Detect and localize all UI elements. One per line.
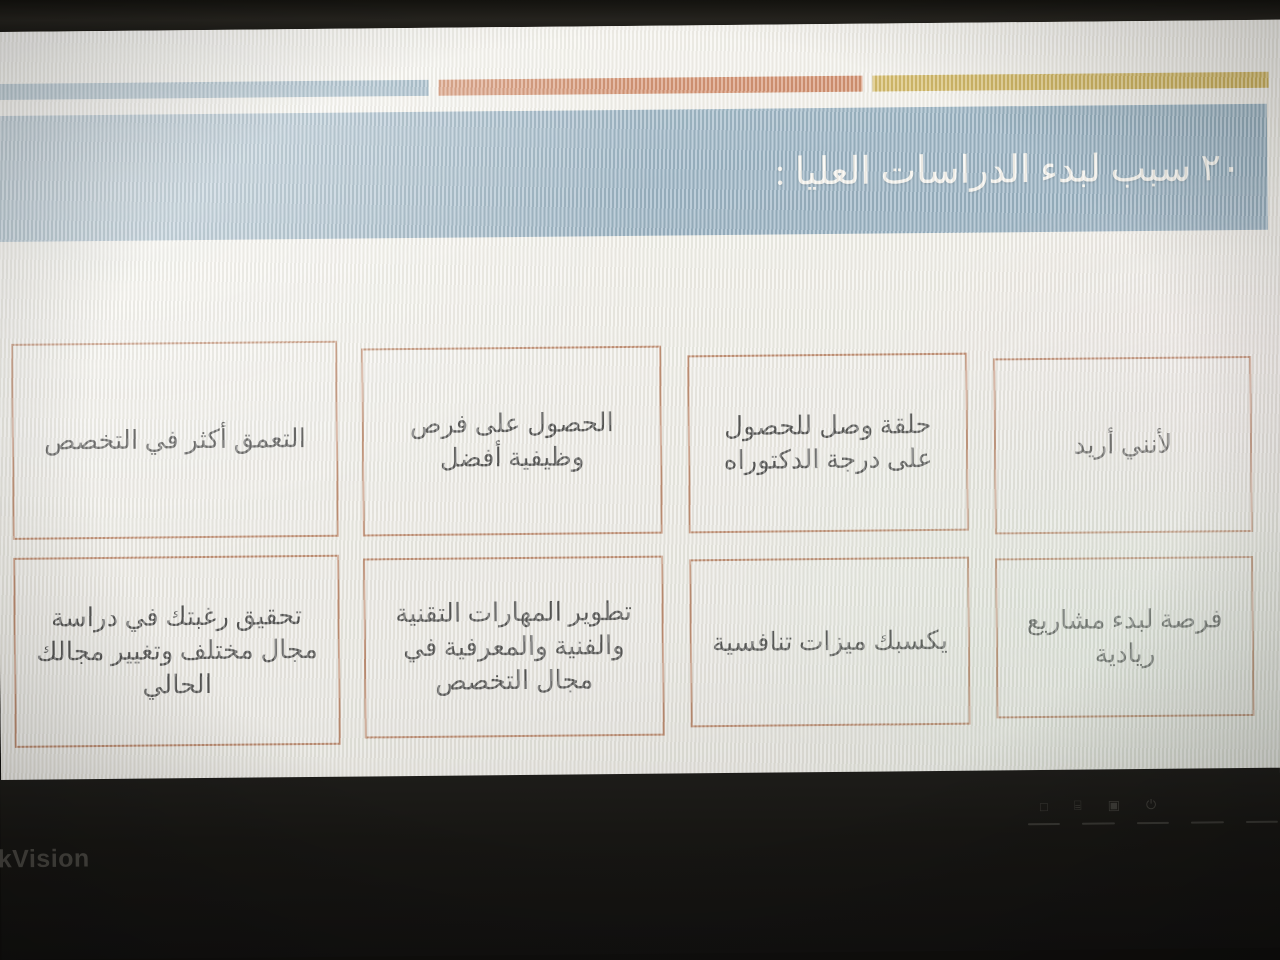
reason-box-7[interactable]: تطوير المهارات التقنية والفنية والمعرفية… xyxy=(363,556,665,739)
reason-box-7-text: تطوير المهارات التقنية والفنية والمعرفية… xyxy=(379,594,648,700)
osd-key-power-icon[interactable]: ⏻ xyxy=(1146,797,1156,813)
osd-indicator-3 xyxy=(1137,822,1169,824)
reason-box-4-text: التعمق أكثر في التخصص xyxy=(44,422,306,459)
reason-box-4[interactable]: التعمق أكثر في التخصص xyxy=(11,341,339,540)
reasons-grid: لأنني أريد حلقة وصل للحصول على درجة الدك… xyxy=(0,320,1280,752)
monitor-photo: ٢٠ سبب لبدء الدراسات العليا : لأنني أريد… xyxy=(0,0,1280,960)
slide-accent-bar xyxy=(0,72,1280,100)
reason-box-5[interactable]: فرصة لبدء مشاريع ريادية xyxy=(995,556,1255,718)
reason-box-6-text: يكسبك ميزات تنافسية xyxy=(712,624,948,661)
slide-title: ٢٠ سبب لبدء الدراسات العليا : xyxy=(775,144,1268,194)
thinkvision-logo: nkVision xyxy=(0,844,90,874)
reason-box-3-text: الحصول على فرص وظيفية أفضل xyxy=(378,405,647,476)
reason-box-8-text: تحقيق رغبتك في دراسة مجال مختلف وتغيير م… xyxy=(29,598,324,704)
osd-indicator-1 xyxy=(1028,823,1060,825)
reason-box-1[interactable]: لأنني أريد xyxy=(993,356,1253,534)
accent-segment-gold xyxy=(872,72,1268,92)
reason-box-2-text: حلقة وصل للحصول على درجة الدكتوراه xyxy=(704,408,953,479)
reason-box-1-text: لأنني أريد xyxy=(1073,428,1172,463)
reason-box-2[interactable]: حلقة وصل للحصول على درجة الدكتوراه xyxy=(687,353,969,534)
osd-indicator-5 xyxy=(1246,821,1278,823)
reason-box-8[interactable]: تحقيق رغبتك في دراسة مجال مختلف وتغيير م… xyxy=(13,555,341,748)
osd-indicator-4 xyxy=(1191,821,1223,823)
osd-indicator-2 xyxy=(1082,822,1114,824)
monitor-screen: ٢٠ سبب لبدء الدراسات العليا : لأنني أريد… xyxy=(0,20,1280,804)
presentation-slide: ٢٠ سبب لبدء الدراسات العليا : لأنني أريد… xyxy=(0,20,1280,804)
osd-key-mode-icon[interactable]: ▣ xyxy=(1108,797,1120,813)
osd-key-menu-icon[interactable]: □ xyxy=(1040,799,1048,814)
reason-box-6[interactable]: يكسبك ميزات تنافسية xyxy=(689,557,971,728)
monitor-osd-indicator-strip xyxy=(1028,821,1278,838)
accent-segment-blue xyxy=(0,80,429,100)
reason-box-5-text: فرصة لبدء مشاريع ريادية xyxy=(1012,602,1239,673)
slide-title-band: ٢٠ سبب لبدء الدراسات العليا : xyxy=(0,104,1268,242)
osd-key-input-icon[interactable]: ⌸ xyxy=(1074,798,1082,814)
reason-box-3[interactable]: الحصول على فرص وظيفية أفضل xyxy=(361,346,663,537)
accent-segment-orange xyxy=(438,76,862,96)
